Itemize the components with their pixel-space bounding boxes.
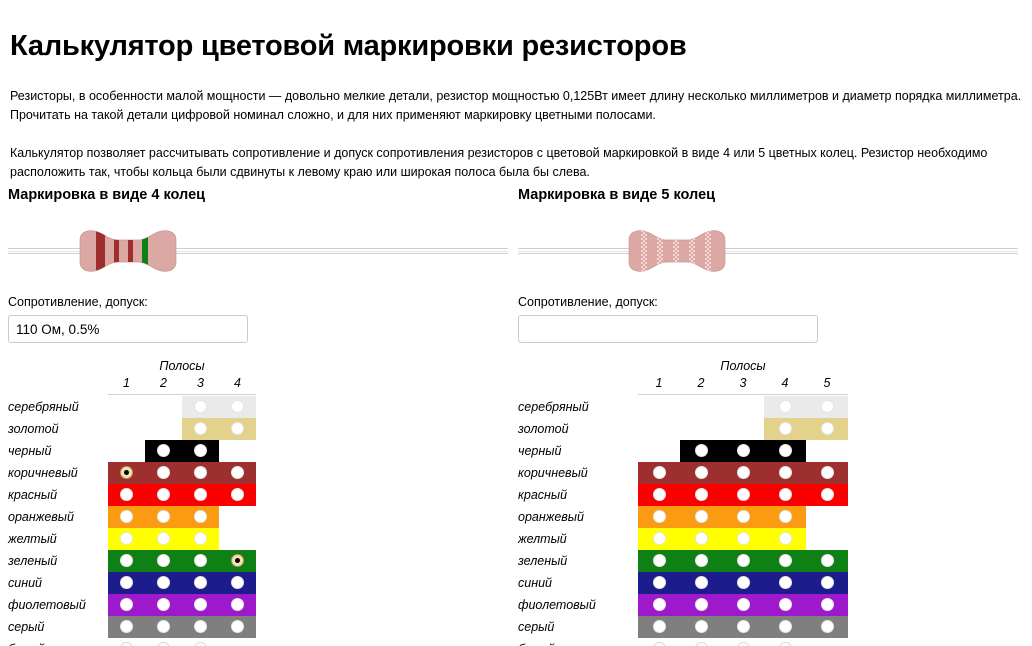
- band-swatch-cell[interactable]: [145, 572, 182, 594]
- band-swatch-cell[interactable]: [145, 506, 182, 528]
- resistance-label-5: Сопротивление, допуск:: [518, 294, 1018, 310]
- band-color-row: желтый: [8, 528, 256, 550]
- radio-button[interactable]: [194, 532, 207, 545]
- band-color-row: серебряный: [8, 396, 256, 418]
- band-column-header-1: 1: [638, 373, 680, 393]
- band-color-row: зеленый: [518, 550, 848, 572]
- band-swatch-cell-empty: [219, 440, 256, 462]
- band-swatch-cell[interactable]: [764, 594, 806, 616]
- band-swatch-cell[interactable]: [108, 638, 145, 646]
- band-swatch-cell[interactable]: [108, 572, 145, 594]
- band-column-header-3: 3: [722, 373, 764, 393]
- band-swatch-cell-empty: [638, 440, 680, 462]
- radio-button[interactable]: [779, 554, 792, 567]
- band-column-header-3: 3: [182, 373, 219, 393]
- band-color-label: серебряный: [518, 396, 638, 418]
- radio-button[interactable]: [737, 510, 750, 523]
- radio-button[interactable]: [821, 400, 834, 413]
- radio-button[interactable]: [695, 598, 708, 611]
- resistor-band-5: [705, 228, 711, 274]
- radio-button[interactable]: [157, 488, 170, 501]
- band-color-row: коричневый: [518, 462, 848, 484]
- radio-button[interactable]: [737, 444, 750, 457]
- resistance-value-input-4[interactable]: [8, 315, 248, 343]
- band-swatch-cell[interactable]: [722, 638, 764, 646]
- band-swatch-cell[interactable]: [145, 594, 182, 616]
- band-swatch-cell[interactable]: [680, 638, 722, 646]
- radio-button[interactable]: [194, 620, 207, 633]
- resistor-band-2: [657, 228, 663, 274]
- band-swatch-cell[interactable]: [219, 462, 256, 484]
- band-swatch-cell[interactable]: [722, 572, 764, 594]
- band-swatch-cell[interactable]: [638, 506, 680, 528]
- band-color-row: серый: [518, 616, 848, 638]
- band-swatch-cell[interactable]: [145, 616, 182, 638]
- intro-paragraph-2: Калькулятор позволяет рассчитывать сопро…: [10, 144, 1022, 182]
- radio-button[interactable]: [821, 598, 834, 611]
- band-color-label: желтый: [518, 528, 638, 550]
- band-swatch-cell[interactable]: [182, 638, 219, 646]
- section-title-4-bands: Маркировка в виде 4 колец: [8, 186, 508, 208]
- resistor-band-4: [142, 228, 148, 274]
- band-swatch-cell[interactable]: [806, 616, 848, 638]
- band-color-label: зеленый: [8, 550, 108, 572]
- table-caption-row: Полосы: [8, 359, 256, 373]
- band-swatch-cell[interactable]: [638, 550, 680, 572]
- radio-button[interactable]: [194, 554, 207, 567]
- radio-button[interactable]: [821, 620, 834, 633]
- band-swatch-cell[interactable]: [806, 418, 848, 440]
- radio-button[interactable]: [120, 598, 133, 611]
- band-swatch-cell[interactable]: [145, 484, 182, 506]
- resistor-band-1: [96, 228, 105, 274]
- band-color-row: черный: [518, 440, 848, 462]
- band-swatch-cell-empty: [108, 440, 145, 462]
- band-swatch-cell[interactable]: [108, 484, 145, 506]
- radio-button-selected[interactable]: [231, 554, 244, 567]
- calculator-4-bands: Маркировка в виде 4 колец: [8, 186, 508, 646]
- radio-button[interactable]: [231, 422, 244, 435]
- radio-button[interactable]: [194, 642, 207, 646]
- band-swatch-cell[interactable]: [182, 462, 219, 484]
- band-swatch-cell[interactable]: [219, 418, 256, 440]
- radio-button[interactable]: [695, 642, 708, 646]
- table-header-row: 1 2 3 4 5: [518, 373, 848, 393]
- band-color-row: серый: [8, 616, 256, 638]
- resistor-band-1: [641, 228, 647, 274]
- resistance-value-input-5[interactable]: [518, 315, 818, 343]
- radio-button[interactable]: [194, 444, 207, 457]
- radio-button[interactable]: [695, 510, 708, 523]
- band-swatch-cell[interactable]: [806, 572, 848, 594]
- radio-button[interactable]: [737, 554, 750, 567]
- band-swatch-cell[interactable]: [722, 550, 764, 572]
- radio-button[interactable]: [779, 444, 792, 457]
- band-color-row: серебряный: [518, 396, 848, 418]
- band-swatch-cell[interactable]: [182, 484, 219, 506]
- band-swatch-cell[interactable]: [182, 418, 219, 440]
- page-title: Калькулятор цветовой маркировки резистор…: [10, 29, 686, 63]
- band-swatch-cell-empty: [722, 418, 764, 440]
- band-swatch-cell[interactable]: [108, 594, 145, 616]
- radio-button[interactable]: [737, 642, 750, 646]
- band-color-table-5: Полосы 1 2 3 4 5 серебряныйзолотойчерный…: [518, 359, 848, 646]
- band-swatch-cell[interactable]: [108, 616, 145, 638]
- band-color-label: синий: [8, 572, 108, 594]
- band-color-label: зеленый: [518, 550, 638, 572]
- band-swatch-cell[interactable]: [764, 616, 806, 638]
- band-color-label: оранжевый: [518, 506, 638, 528]
- band-swatch-cell[interactable]: [680, 506, 722, 528]
- band-swatch-cell[interactable]: [722, 528, 764, 550]
- band-swatch-cell-empty: [722, 396, 764, 418]
- band-swatch-cell-empty: [108, 418, 145, 440]
- band-swatch-cell-empty: [806, 638, 848, 646]
- band-color-row: красный: [8, 484, 256, 506]
- radio-button[interactable]: [695, 620, 708, 633]
- band-swatch-cell[interactable]: [806, 396, 848, 418]
- band-color-row: золотой: [8, 418, 256, 440]
- band-color-label: фиолетовый: [518, 594, 638, 616]
- band-swatch-cell[interactable]: [182, 550, 219, 572]
- band-color-label: фиолетовый: [8, 594, 108, 616]
- band-color-table-4: Полосы 1 2 3 4 серебряныйзолотойчерныйко…: [8, 359, 256, 646]
- radio-button[interactable]: [157, 466, 170, 479]
- resistor-body: [623, 228, 731, 274]
- bands-caption-4: Полосы: [108, 359, 256, 373]
- table-top-divider: [638, 394, 848, 395]
- radio-button[interactable]: [695, 488, 708, 501]
- radio-button[interactable]: [194, 488, 207, 501]
- band-color-row: черный: [8, 440, 256, 462]
- band-swatch-cell-empty: [680, 418, 722, 440]
- band-swatch-cell[interactable]: [108, 506, 145, 528]
- band-column-header-5: 5: [806, 373, 848, 393]
- band-swatch-cell[interactable]: [722, 594, 764, 616]
- band-color-row: оранжевый: [518, 506, 848, 528]
- band-color-label: серый: [518, 616, 638, 638]
- bands-caption-5: Полосы: [638, 359, 848, 373]
- band-swatch-cell[interactable]: [680, 528, 722, 550]
- band-swatch-cell[interactable]: [182, 440, 219, 462]
- radio-button[interactable]: [231, 576, 244, 589]
- radio-button[interactable]: [194, 400, 207, 413]
- band-swatch-cell[interactable]: [182, 506, 219, 528]
- radio-button[interactable]: [653, 620, 666, 633]
- band-swatch-cell[interactable]: [806, 550, 848, 572]
- band-swatch-cell-empty: [680, 396, 722, 418]
- band-swatch-cell[interactable]: [764, 418, 806, 440]
- band-swatch-cell[interactable]: [219, 484, 256, 506]
- radio-button[interactable]: [779, 620, 792, 633]
- radio-button[interactable]: [695, 532, 708, 545]
- band-column-header-4: 4: [764, 373, 806, 393]
- band-swatch-cell[interactable]: [638, 528, 680, 550]
- band-swatch-cell-empty: [145, 396, 182, 418]
- band-color-label: коричневый: [8, 462, 108, 484]
- radio-button[interactable]: [157, 576, 170, 589]
- band-swatch-cell-empty: [638, 418, 680, 440]
- band-color-label: красный: [8, 484, 108, 506]
- resistor-body: [74, 228, 182, 274]
- band-color-label: серебряный: [8, 396, 108, 418]
- radio-button[interactable]: [157, 554, 170, 567]
- radio-button[interactable]: [779, 576, 792, 589]
- band-color-rows-4: серебряныйзолотойчерныйкоричневыйкрасный…: [8, 396, 256, 646]
- band-swatch-cell[interactable]: [722, 506, 764, 528]
- band-swatch-cell[interactable]: [638, 594, 680, 616]
- band-swatch-cell-empty: [145, 418, 182, 440]
- band-color-row: красный: [518, 484, 848, 506]
- band-color-row: белый: [518, 638, 848, 646]
- band-swatch-cell[interactable]: [680, 440, 722, 462]
- band-swatch-cell[interactable]: [764, 528, 806, 550]
- band-color-row: фиолетовый: [518, 594, 848, 616]
- table-header-row: 1 2 3 4: [8, 373, 256, 393]
- radio-button[interactable]: [157, 510, 170, 523]
- band-color-row: коричневый: [8, 462, 256, 484]
- band-color-row: синий: [518, 572, 848, 594]
- band-swatch-cell[interactable]: [182, 572, 219, 594]
- radio-button[interactable]: [737, 576, 750, 589]
- radio-button[interactable]: [695, 576, 708, 589]
- band-swatch-cell[interactable]: [145, 462, 182, 484]
- band-swatch-cell-empty: [806, 440, 848, 462]
- radio-button[interactable]: [737, 620, 750, 633]
- band-swatch-cell[interactable]: [764, 462, 806, 484]
- radio-button[interactable]: [779, 400, 792, 413]
- intro-paragraph-1: Резисторы, в особенности малой мощности …: [10, 87, 1022, 125]
- band-swatch-cell[interactable]: [145, 440, 182, 462]
- resistor-svg: [623, 228, 731, 274]
- band-color-label: оранжевый: [8, 506, 108, 528]
- radio-button[interactable]: [653, 466, 666, 479]
- band-color-label: серый: [8, 616, 108, 638]
- resistor-band-3: [128, 228, 133, 274]
- radio-button[interactable]: [194, 466, 207, 479]
- band-swatch-cell[interactable]: [219, 594, 256, 616]
- band-swatch-cell-empty: [219, 638, 256, 646]
- radio-button[interactable]: [653, 488, 666, 501]
- radio-button[interactable]: [120, 532, 133, 545]
- band-column-header-2: 2: [680, 373, 722, 393]
- band-color-row: зеленый: [8, 550, 256, 572]
- radio-button[interactable]: [737, 466, 750, 479]
- calculator-5-bands: Маркировка в виде 5 колец: [518, 186, 1018, 646]
- band-swatch-cell[interactable]: [638, 638, 680, 646]
- radio-button[interactable]: [653, 598, 666, 611]
- resistor-5-bands-illustration: [518, 222, 1018, 280]
- band-swatch-cell[interactable]: [680, 616, 722, 638]
- radio-button[interactable]: [779, 510, 792, 523]
- band-swatch-cell-empty: [806, 528, 848, 550]
- band-color-label: коричневый: [518, 462, 638, 484]
- band-color-label: черный: [8, 440, 108, 462]
- radio-button[interactable]: [737, 532, 750, 545]
- band-swatch-cell[interactable]: [638, 484, 680, 506]
- radio-button[interactable]: [194, 422, 207, 435]
- resistor-4-bands-illustration: [8, 222, 508, 280]
- band-color-label: золотой: [8, 418, 108, 440]
- band-swatch-cell[interactable]: [108, 462, 145, 484]
- radio-button[interactable]: [779, 598, 792, 611]
- resistor-band-2: [114, 228, 119, 274]
- radio-button[interactable]: [737, 598, 750, 611]
- radio-button[interactable]: [120, 576, 133, 589]
- band-swatch-cell[interactable]: [182, 396, 219, 418]
- radio-button[interactable]: [821, 466, 834, 479]
- band-swatch-cell[interactable]: [722, 462, 764, 484]
- radio-button[interactable]: [821, 554, 834, 567]
- band-swatch-cell-empty: [108, 396, 145, 418]
- radio-button[interactable]: [653, 642, 666, 646]
- resistor-band-4: [689, 228, 695, 274]
- band-swatch-cell-empty: [806, 506, 848, 528]
- radio-button[interactable]: [157, 620, 170, 633]
- radio-button[interactable]: [821, 576, 834, 589]
- band-swatch-cell[interactable]: [108, 528, 145, 550]
- radio-button-selected[interactable]: [120, 466, 133, 479]
- radio-button[interactable]: [194, 576, 207, 589]
- radio-button[interactable]: [157, 598, 170, 611]
- band-swatch-cell[interactable]: [219, 572, 256, 594]
- band-color-row: фиолетовый: [8, 594, 256, 616]
- band-swatch-cell[interactable]: [182, 594, 219, 616]
- band-swatch-cell-empty: [638, 396, 680, 418]
- band-column-header-2: 2: [145, 373, 182, 393]
- band-swatch-cell[interactable]: [680, 462, 722, 484]
- band-swatch-cell[interactable]: [680, 594, 722, 616]
- radio-button[interactable]: [779, 422, 792, 435]
- radio-button[interactable]: [231, 466, 244, 479]
- radio-button[interactable]: [120, 554, 133, 567]
- band-swatch-cell[interactable]: [722, 484, 764, 506]
- band-swatch-cell[interactable]: [806, 462, 848, 484]
- band-color-label: черный: [518, 440, 638, 462]
- band-swatch-cell[interactable]: [680, 572, 722, 594]
- radio-button[interactable]: [231, 488, 244, 501]
- band-swatch-cell[interactable]: [638, 572, 680, 594]
- band-color-label: золотой: [518, 418, 638, 440]
- band-column-header-1: 1: [108, 373, 145, 393]
- band-swatch-cell[interactable]: [108, 550, 145, 572]
- radio-button[interactable]: [779, 466, 792, 479]
- band-color-row: золотой: [518, 418, 848, 440]
- band-swatch-cell[interactable]: [764, 572, 806, 594]
- section-title-5-bands: Маркировка в виде 5 колец: [518, 186, 1018, 208]
- band-color-label: белый: [518, 638, 638, 646]
- radio-button[interactable]: [194, 598, 207, 611]
- radio-button[interactable]: [231, 400, 244, 413]
- radio-button[interactable]: [653, 554, 666, 567]
- page-root: Калькулятор цветовой маркировки резистор…: [0, 0, 1032, 646]
- radio-button[interactable]: [695, 466, 708, 479]
- band-swatch-cell[interactable]: [680, 550, 722, 572]
- radio-button[interactable]: [120, 510, 133, 523]
- resistor-band-3: [673, 228, 679, 274]
- resistor-svg: [74, 228, 182, 274]
- resistor-lead-wire: [518, 248, 1018, 254]
- band-swatch-cell[interactable]: [638, 462, 680, 484]
- radio-button[interactable]: [157, 444, 170, 457]
- band-swatch-cell[interactable]: [680, 484, 722, 506]
- band-swatch-cell[interactable]: [722, 616, 764, 638]
- radio-button[interactable]: [653, 576, 666, 589]
- radio-button[interactable]: [695, 444, 708, 457]
- radio-button[interactable]: [779, 642, 792, 646]
- band-color-rows-5: серебряныйзолотойчерныйкоричневыйкрасный…: [518, 396, 848, 646]
- radio-button[interactable]: [231, 598, 244, 611]
- radio-button[interactable]: [194, 510, 207, 523]
- radio-button[interactable]: [120, 488, 133, 501]
- resistance-label-4: Сопротивление, допуск:: [8, 294, 508, 310]
- band-color-row: белый: [8, 638, 256, 646]
- band-swatch-cell[interactable]: [806, 484, 848, 506]
- band-swatch-cell[interactable]: [145, 550, 182, 572]
- band-color-label: синий: [518, 572, 638, 594]
- band-swatch-cell[interactable]: [219, 396, 256, 418]
- band-color-label: желтый: [8, 528, 108, 550]
- radio-button[interactable]: [821, 422, 834, 435]
- band-swatch-cell[interactable]: [145, 638, 182, 646]
- table-caption-row: Полосы: [518, 359, 848, 373]
- radio-button[interactable]: [120, 620, 133, 633]
- band-swatch-cell[interactable]: [764, 396, 806, 418]
- band-swatch-cell[interactable]: [764, 506, 806, 528]
- band-swatch-cell[interactable]: [182, 528, 219, 550]
- band-swatch-cell[interactable]: [764, 550, 806, 572]
- table-top-divider: [108, 394, 256, 395]
- band-swatch-cell[interactable]: [638, 616, 680, 638]
- radio-button[interactable]: [231, 620, 244, 633]
- radio-button[interactable]: [653, 510, 666, 523]
- band-color-label: красный: [518, 484, 638, 506]
- band-color-row: оранжевый: [8, 506, 256, 528]
- band-color-row: желтый: [518, 528, 848, 550]
- radio-button[interactable]: [157, 532, 170, 545]
- band-swatch-cell[interactable]: [722, 440, 764, 462]
- band-swatch-cell[interactable]: [806, 594, 848, 616]
- band-swatch-cell[interactable]: [764, 484, 806, 506]
- band-swatch-cell[interactable]: [145, 528, 182, 550]
- band-color-label: белый: [8, 638, 108, 646]
- radio-button[interactable]: [779, 532, 792, 545]
- band-swatch-cell-empty: [219, 528, 256, 550]
- radio-button[interactable]: [695, 554, 708, 567]
- band-swatch-cell[interactable]: [764, 440, 806, 462]
- radio-button[interactable]: [120, 642, 133, 646]
- radio-button[interactable]: [737, 488, 750, 501]
- band-column-header-4: 4: [219, 373, 256, 393]
- band-swatch-cell-empty: [219, 506, 256, 528]
- band-color-row: синий: [8, 572, 256, 594]
- band-swatch-cell[interactable]: [219, 550, 256, 572]
- band-swatch-cell[interactable]: [219, 616, 256, 638]
- radio-button[interactable]: [821, 488, 834, 501]
- radio-button[interactable]: [157, 642, 170, 646]
- band-swatch-cell[interactable]: [182, 616, 219, 638]
- radio-button[interactable]: [653, 532, 666, 545]
- band-swatch-cell[interactable]: [764, 638, 806, 646]
- radio-button[interactable]: [779, 488, 792, 501]
